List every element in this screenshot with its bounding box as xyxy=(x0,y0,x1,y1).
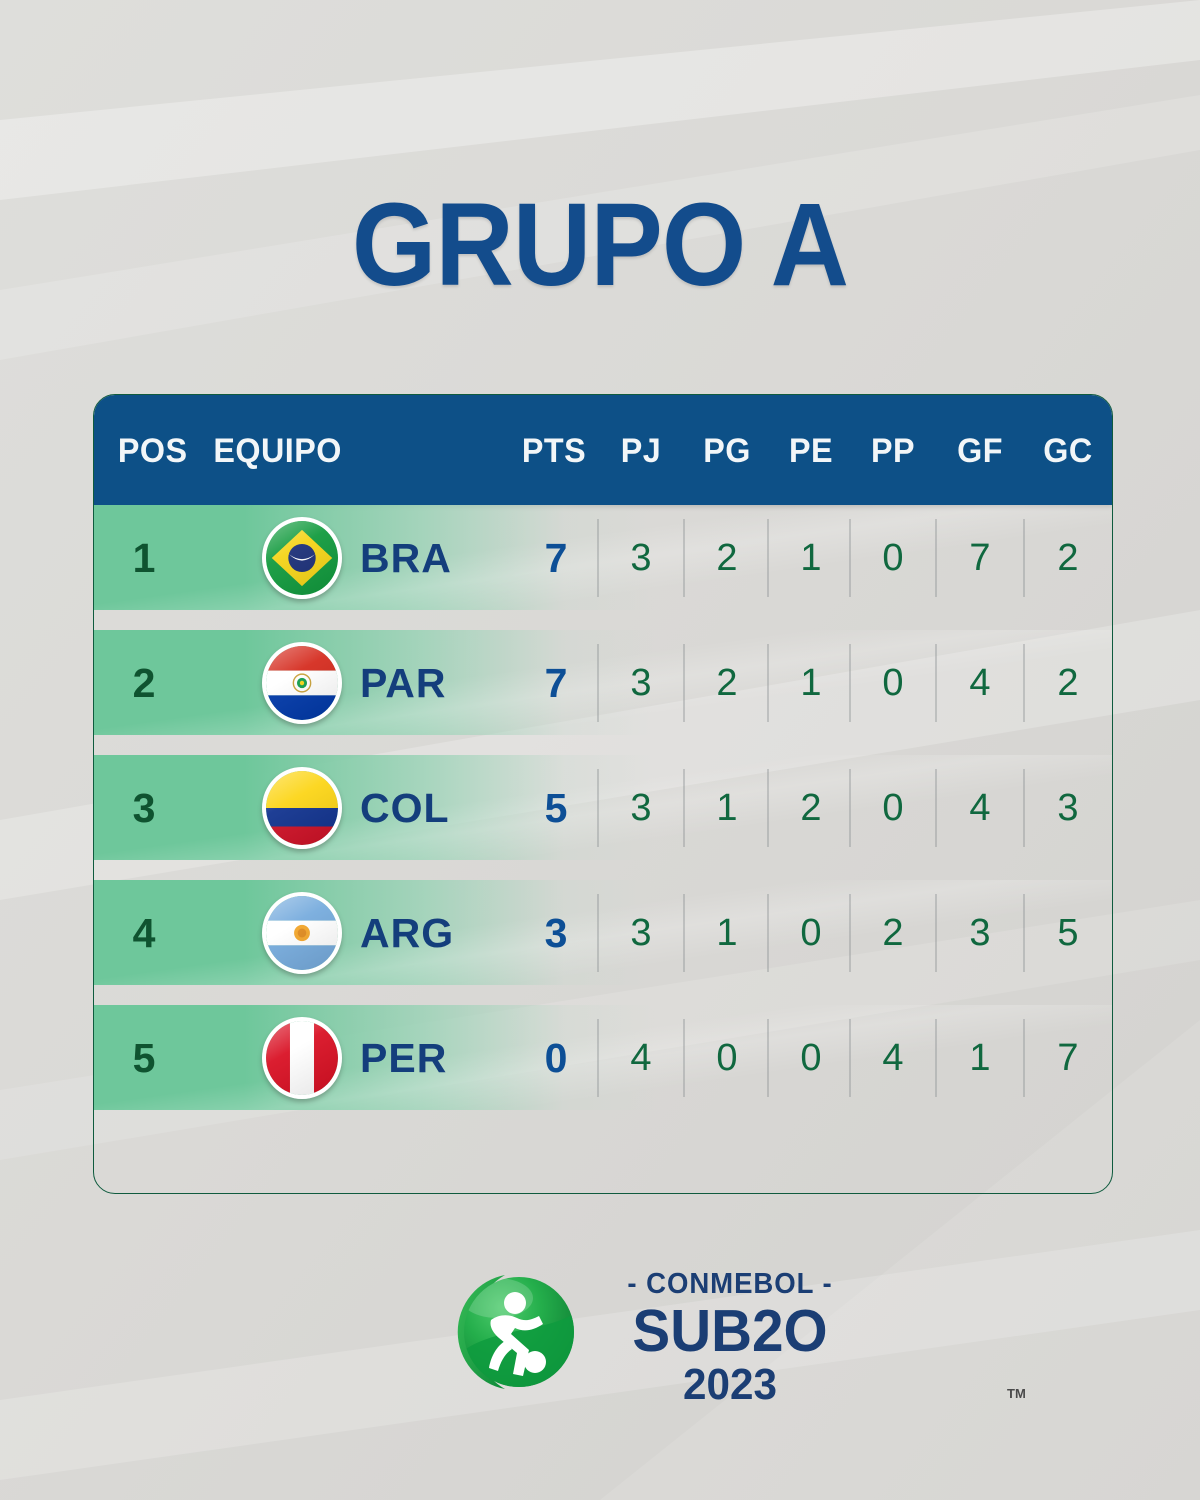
conmebol-ball-player-logo-icon: TM xyxy=(447,1258,587,1410)
column-separator xyxy=(1112,644,1113,722)
table-row[interactable]: 1BRA73210725 xyxy=(94,505,1112,610)
standings-rows: 1BRA732107252PAR732104223COL531204314ARG… xyxy=(94,505,1112,1130)
row-team-code: PAR xyxy=(360,630,447,735)
row-stat-gc: 3 xyxy=(1013,755,1113,860)
row-position: 2 xyxy=(118,630,170,735)
header-pos: POS xyxy=(118,395,188,505)
column-separator xyxy=(1112,894,1113,972)
row-stat-gc: 5 xyxy=(1013,880,1113,985)
table-row[interactable]: 5PER0400417-6 xyxy=(94,1005,1112,1110)
footer: TM - CONMEBOL - SUB2O 2023 xyxy=(0,1258,1200,1438)
header-dg: DG xyxy=(1105,395,1113,505)
logo-year-label: 2023 xyxy=(605,1363,855,1407)
logo-conmebol-label: - CONMEBOL - xyxy=(607,1268,854,1301)
row-team-code: COL xyxy=(360,755,450,860)
column-separator xyxy=(1112,1019,1113,1097)
table-row[interactable]: 4ARG3310235-2 xyxy=(94,880,1112,985)
peru-flag-icon xyxy=(262,1017,342,1099)
row-team-code: ARG xyxy=(360,880,454,985)
row-stat-gc: 2 xyxy=(1013,505,1113,610)
column-separator xyxy=(1112,769,1113,847)
row-position: 4 xyxy=(118,880,170,985)
table-row[interactable]: 2PAR73210422 xyxy=(94,630,1112,735)
row-stat-dg: -6 xyxy=(1102,1005,1113,1110)
table-row[interactable]: 3COL53120431 xyxy=(94,755,1112,860)
logo-text-block: - CONMEBOL - SUB2O 2023 xyxy=(600,1268,860,1407)
row-position: 5 xyxy=(118,1005,170,1110)
row-stat-gc: 2 xyxy=(1013,630,1113,735)
column-separator xyxy=(1112,519,1113,597)
row-position: 1 xyxy=(118,505,170,610)
header-equipo: EQUIPO xyxy=(213,395,341,505)
row-stat-dg: 1 xyxy=(1102,755,1113,860)
standings-card: POS EQUIPO PTS PJ PG PE PP GF GC DG 1BRA… xyxy=(93,394,1113,1194)
page-title: GRUPO A xyxy=(48,186,1152,304)
row-team-code: PER xyxy=(360,1005,447,1110)
logo-sub20-label: SUB2O xyxy=(605,1303,855,1361)
argentina-flag-icon xyxy=(262,892,342,974)
table-header-row: POS EQUIPO PTS PJ PG PE PP GF GC DG xyxy=(94,395,1112,505)
paraguay-flag-icon xyxy=(262,642,342,724)
colombia-flag-icon xyxy=(262,767,342,849)
row-stat-dg: -2 xyxy=(1102,880,1113,985)
header-gc: GC xyxy=(1016,395,1113,505)
row-stat-gc: 7 xyxy=(1013,1005,1113,1110)
brazil-flag-icon xyxy=(262,517,342,599)
row-team-code: BRA xyxy=(360,505,452,610)
row-stat-dg: 2 xyxy=(1102,630,1113,735)
row-stat-dg: 5 xyxy=(1102,505,1113,610)
row-position: 3 xyxy=(118,755,170,860)
trademark-mark: TM xyxy=(1007,1386,1026,1401)
